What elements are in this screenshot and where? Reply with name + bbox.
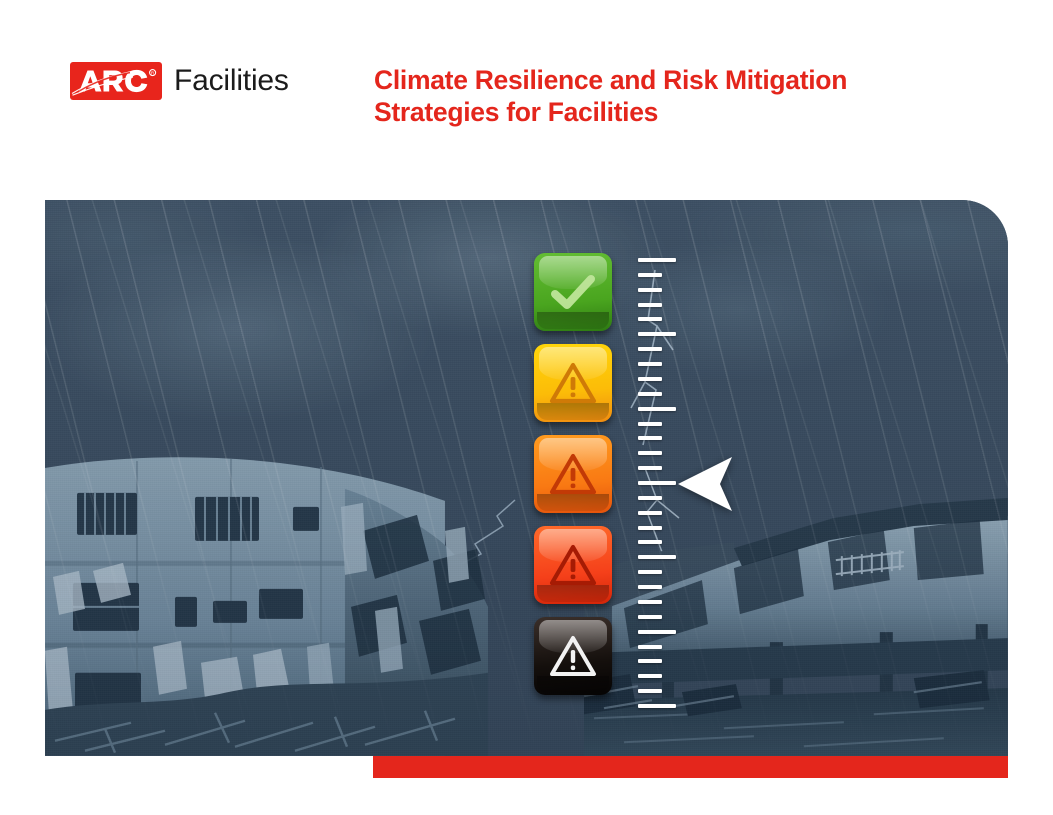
ruler-tick-major — [638, 555, 676, 559]
ruler-tick-major — [638, 704, 676, 708]
ruler-tick-minor — [638, 362, 662, 366]
risk-level-moderate[interactable] — [534, 435, 612, 513]
ruler-tick-minor — [638, 436, 662, 440]
svg-text:R: R — [151, 70, 154, 75]
ruler-tick-major — [638, 332, 676, 336]
risk-level-high[interactable] — [534, 526, 612, 604]
ruler-tick-minor — [638, 511, 662, 515]
ruler-tick-major — [638, 481, 676, 485]
risk-level-safe[interactable] — [534, 253, 612, 331]
page-header: R Facilities Climate Resilience and Risk… — [0, 0, 1053, 190]
ruler-tick-minor — [638, 317, 662, 321]
page-title-line-1: Climate Resilience and Risk Mitigation — [374, 65, 847, 95]
ruler-tick-minor — [638, 526, 662, 530]
ruler-tick-minor — [638, 273, 662, 277]
ruler-tick-minor — [638, 659, 662, 663]
risk-level-low[interactable] — [534, 344, 612, 422]
ruler-tick-minor — [638, 422, 662, 426]
ruler-tick-minor — [638, 392, 662, 396]
arc-logo-mark: R — [70, 62, 162, 100]
page-title-line-2: Strategies for Facilities — [374, 97, 658, 127]
ruler-tick-minor — [638, 496, 662, 500]
ruler-tick-major — [638, 407, 676, 411]
ruler-tick-minor — [638, 689, 662, 693]
ruler-tick-minor — [638, 303, 662, 307]
ruler-tick-major — [638, 258, 676, 262]
brand-logo: R Facilities — [70, 62, 289, 100]
risk-pointer-arrow — [676, 453, 738, 515]
ruler-tick-minor — [638, 570, 662, 574]
risk-scale-ruler — [638, 258, 680, 708]
ruler-tick-minor — [638, 615, 662, 619]
ruler-tick-minor — [638, 288, 662, 292]
ruler-tick-minor — [638, 674, 662, 678]
risk-level-gauge — [490, 248, 740, 718]
risk-level-extreme[interactable] — [534, 617, 612, 695]
footer-accent-bar — [373, 756, 1008, 778]
ruler-tick-minor — [638, 540, 662, 544]
ruler-tick-minor — [638, 377, 662, 381]
risk-level-buttons — [534, 253, 612, 708]
ruler-tick-minor — [638, 451, 662, 455]
ruler-tick-minor — [638, 466, 662, 470]
ruler-tick-minor — [638, 645, 662, 649]
page-title: Climate Resilience and Risk Mitigation S… — [374, 64, 994, 129]
ruler-tick-major — [638, 630, 676, 634]
ruler-tick-minor — [638, 347, 662, 351]
brand-name: Facilities — [174, 66, 289, 96]
ruler-tick-minor — [638, 585, 662, 589]
hero-image — [45, 200, 1008, 756]
ruler-tick-minor — [638, 600, 662, 604]
